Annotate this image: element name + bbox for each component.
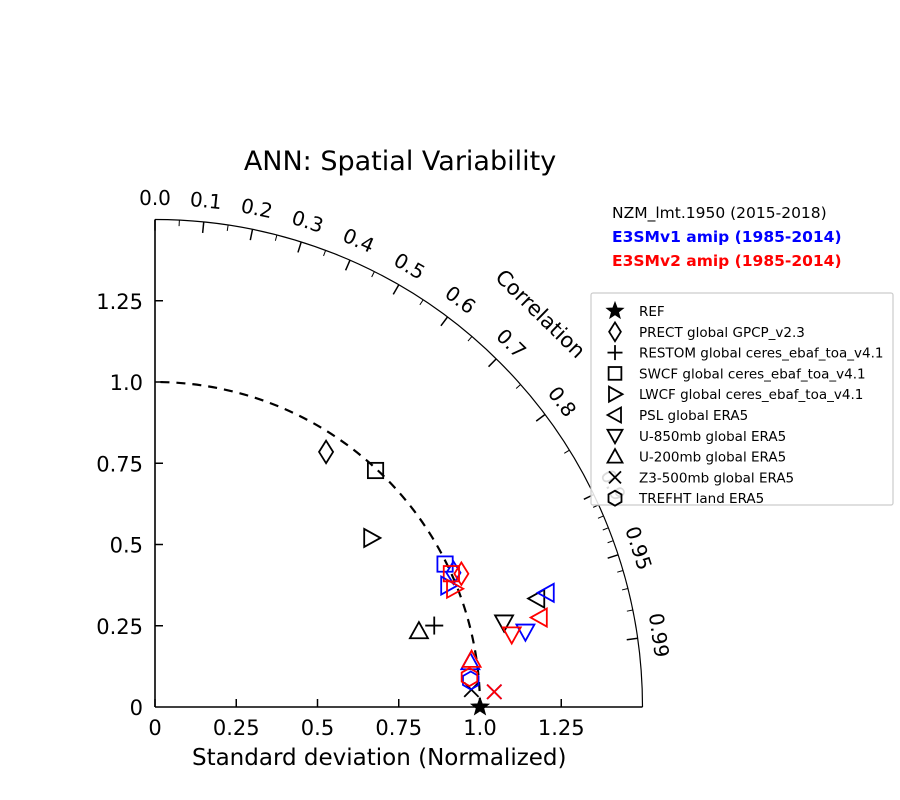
corr-tick bbox=[393, 285, 399, 295]
data-point[interactable] bbox=[472, 699, 487, 713]
y-tick-label-3: 0.75 bbox=[96, 452, 143, 476]
corr-minor-tick bbox=[622, 588, 628, 589]
corr-tick-label-4: 0.4 bbox=[339, 223, 378, 258]
legend-item[interactable]: SWCF global ceres_ebaf_toa_v4.1 bbox=[609, 366, 866, 382]
marker-triangle-up bbox=[463, 651, 481, 667]
marker-square bbox=[437, 556, 452, 571]
marker-triangle-left bbox=[528, 590, 544, 608]
corr-tick-label-0: 0.0 bbox=[139, 186, 171, 210]
data-point[interactable] bbox=[462, 668, 478, 686]
corr-tick bbox=[489, 359, 497, 367]
data-points bbox=[319, 441, 554, 714]
x-tick-label-2: 0.5 bbox=[301, 716, 334, 740]
outer-arc bbox=[155, 219, 643, 707]
legend-item-label: PRECT global GPCP_v2.3 bbox=[639, 325, 805, 341]
marker-star bbox=[472, 699, 487, 713]
corr-tick-label-3: 0.3 bbox=[289, 205, 327, 237]
corr-minor-tick bbox=[608, 541, 614, 543]
data-point[interactable] bbox=[463, 672, 479, 690]
marker-triangle-up bbox=[410, 622, 428, 638]
corr-minor-tick bbox=[516, 385, 521, 389]
corr-minor-tick bbox=[275, 235, 277, 241]
header-line-0: NZM_lmt.1950 (2015-2018) bbox=[612, 204, 827, 223]
legend-item[interactable]: LWCF global ceres_ebaf_toa_v4.1 bbox=[609, 387, 863, 404]
y-tick-label-0: 0 bbox=[130, 696, 143, 720]
corr-minor-tick bbox=[420, 300, 423, 305]
corr-minor-tick bbox=[324, 250, 326, 256]
legend-item-label: LWCF global ceres_ebaf_toa_v4.1 bbox=[639, 387, 863, 403]
corr-tick bbox=[250, 229, 252, 240]
corr-minor-tick bbox=[617, 571, 623, 573]
y-tick-label-2: 0.5 bbox=[110, 534, 143, 558]
corr-tick-label-6: 0.6 bbox=[440, 281, 480, 319]
corr-minor-tick bbox=[564, 450, 569, 453]
legend-item-label: PSL global ERA5 bbox=[639, 408, 748, 424]
legend-item-label: RESTOM global ceres_ebaf_toa_v4.1 bbox=[639, 346, 884, 362]
corr-tick bbox=[536, 415, 545, 422]
legend-item-label: TREFHT land ERA5 bbox=[638, 491, 764, 507]
legend-item-label: Z3-500mb global ERA5 bbox=[639, 470, 794, 486]
data-point[interactable] bbox=[437, 556, 452, 571]
corr-tick bbox=[627, 638, 638, 640]
data-point[interactable] bbox=[425, 617, 443, 635]
marker-square bbox=[368, 463, 383, 478]
corr-minor-tick bbox=[227, 225, 228, 231]
corr-minor-tick bbox=[372, 272, 375, 277]
corr-minor-tick bbox=[603, 528, 609, 530]
data-point[interactable] bbox=[487, 685, 501, 699]
x-axis-label: Standard deviation (Normalized) bbox=[192, 745, 567, 771]
legend-item-label: U-850mb global ERA5 bbox=[639, 429, 786, 445]
data-point[interactable] bbox=[364, 529, 380, 547]
corr-minor-tick bbox=[627, 610, 633, 611]
corr-tick bbox=[346, 260, 350, 270]
data-point[interactable] bbox=[528, 590, 544, 608]
marker-x bbox=[487, 685, 501, 699]
marker-hexagon bbox=[462, 668, 478, 686]
corr-tick bbox=[203, 222, 204, 233]
x-tick-label-1: 0.25 bbox=[213, 716, 260, 740]
legend-item-label: SWCF global ceres_ebaf_toa_v4.1 bbox=[639, 366, 866, 382]
y-tick-label-4: 1.0 bbox=[110, 371, 143, 395]
legend-item[interactable]: RESTOM global ceres_ebaf_toa_v4.1 bbox=[608, 345, 884, 362]
legend-item-label: U-200mb global ERA5 bbox=[639, 450, 786, 466]
corr-tick bbox=[608, 555, 618, 558]
x-tick-label-5: 1.25 bbox=[538, 716, 585, 740]
marker-triangle-right bbox=[364, 529, 380, 547]
corr-tick bbox=[441, 317, 448, 326]
corr-tick bbox=[298, 242, 301, 252]
data-point[interactable] bbox=[319, 441, 333, 464]
x-tick-label-3: 0.75 bbox=[375, 716, 422, 740]
marker-plus bbox=[425, 617, 443, 635]
y-tick-label-1: 0.25 bbox=[96, 615, 143, 639]
x-tick-label-4: 1.0 bbox=[463, 716, 496, 740]
chart-title: ANN: Spatial Variability bbox=[244, 146, 556, 177]
corr-tick-label-11: 0.99 bbox=[644, 611, 674, 658]
corr-tick-label-1: 0.1 bbox=[189, 187, 223, 214]
data-point[interactable] bbox=[410, 622, 428, 638]
data-point[interactable] bbox=[368, 463, 383, 478]
y-tick-label-5: 1.25 bbox=[96, 290, 143, 314]
marker-hexagon bbox=[463, 672, 479, 690]
corr-tick-label-2: 0.2 bbox=[239, 193, 275, 223]
corr-tick-label-10: 0.95 bbox=[620, 523, 657, 573]
corr-tick-label-5: 0.5 bbox=[390, 248, 430, 285]
legend-item[interactable]: PRECT global GPCP_v2.3 bbox=[609, 322, 805, 341]
corr-minor-tick bbox=[598, 516, 604, 518]
corr-minor-tick bbox=[468, 337, 472, 342]
x-tick-label-0: 0 bbox=[148, 716, 161, 740]
data-point[interactable] bbox=[463, 651, 481, 667]
legend-item-label: REF bbox=[639, 304, 665, 320]
header-line-2: E3SMv2 amip (1985-2014) bbox=[612, 252, 842, 270]
corr-tick-label-8: 0.8 bbox=[543, 382, 581, 422]
header-line-1: E3SMv1 amip (1985-2014) bbox=[612, 228, 842, 246]
corr-tick-label-7: 0.7 bbox=[492, 324, 532, 363]
plot-canvas: ANN: Spatial Variability00.250.50.751.01… bbox=[0, 0, 900, 800]
reference-std-arc bbox=[155, 382, 480, 707]
taylor-diagram-figure: ANN: Spatial Variability00.250.50.751.01… bbox=[0, 0, 900, 800]
legend: REFPRECT global GPCP_v2.3RESTOM global c… bbox=[591, 293, 893, 507]
marker-diamond bbox=[319, 441, 333, 464]
